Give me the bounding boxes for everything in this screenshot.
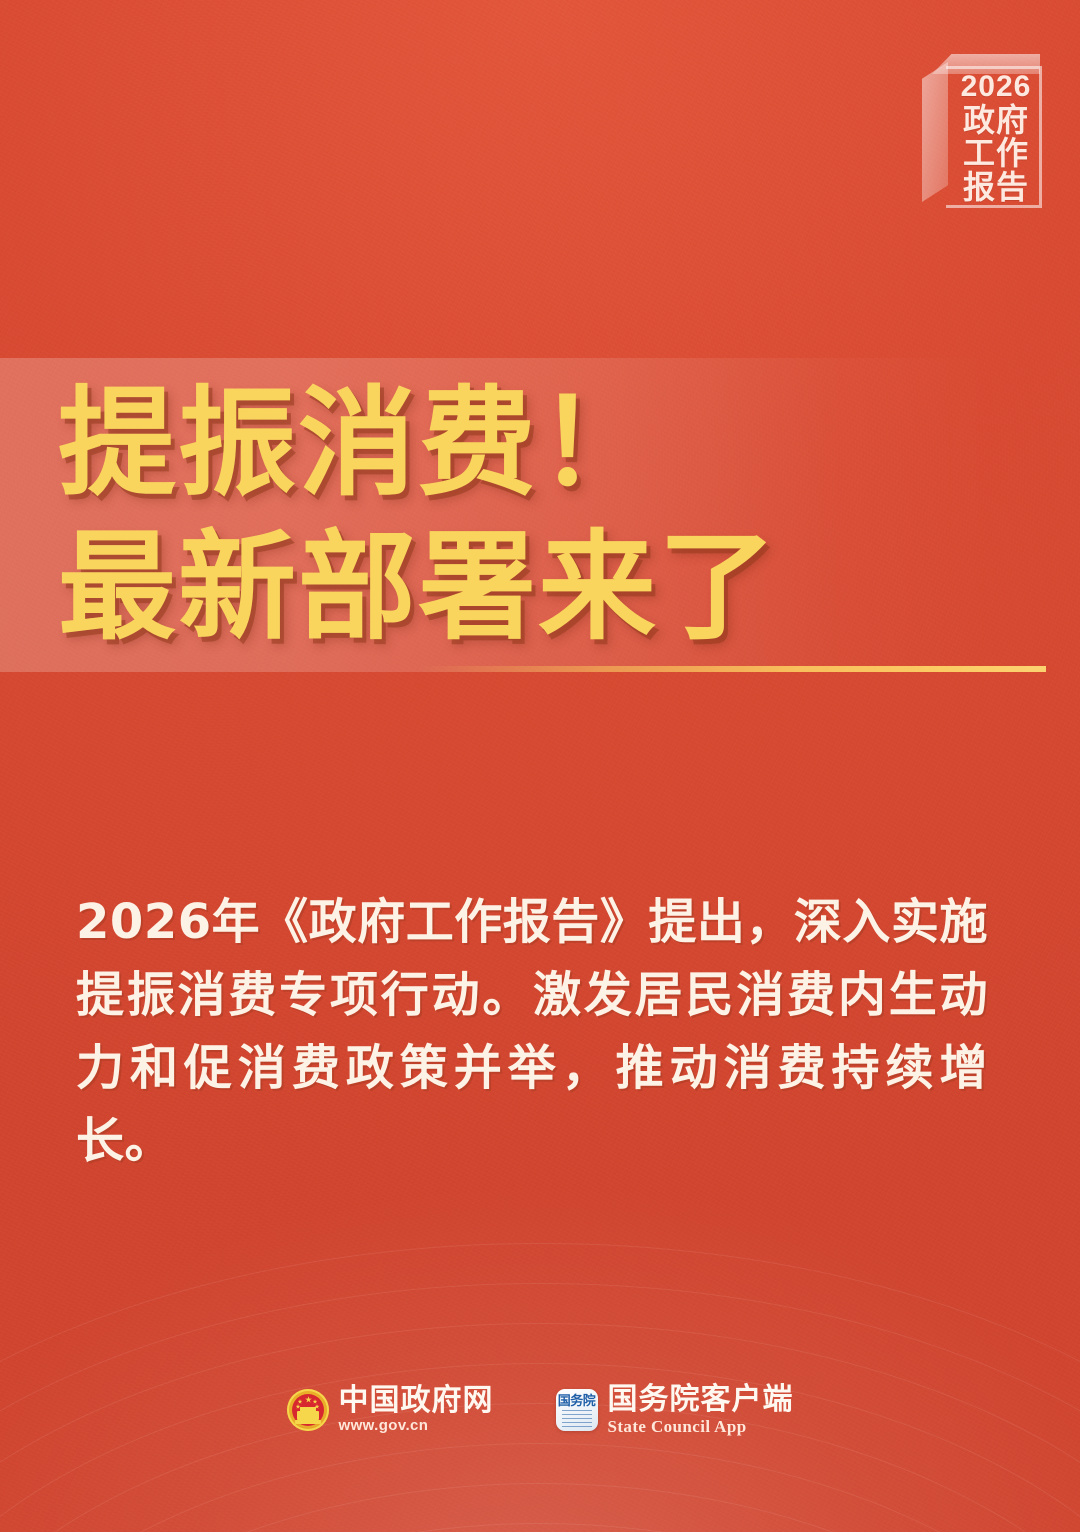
- report-logo-text: 2026 政府 工作 报告: [950, 70, 1042, 206]
- footer-brands: 中国政府网 www.gov.cn 国务院 国务院客户端 State Counci…: [0, 1383, 1080, 1437]
- headline-line-1: 提振消费！: [58, 372, 1038, 516]
- brand-state-council-app[interactable]: 国务院 国务院客户端 State Council App: [556, 1383, 794, 1437]
- state-council-app-icon-lines: [562, 1410, 592, 1428]
- headline-line-2: 最新部署来了: [58, 516, 1038, 660]
- brand-state-council-name: 国务院客户端: [608, 1383, 794, 1416]
- brand-china-gov-url: www.gov.cn: [339, 1417, 494, 1436]
- state-council-app-icon: 国务院: [556, 1389, 598, 1431]
- page-title: 提振消费！ 最新部署来了: [58, 372, 1038, 660]
- brand-china-gov-name: 中国政府网: [339, 1384, 494, 1417]
- brand-china-gov[interactable]: 中国政府网 www.gov.cn: [287, 1384, 494, 1436]
- report-logo-line3: 工作: [963, 137, 1029, 170]
- national-emblem-icon: [287, 1389, 329, 1431]
- gold-divider: [0, 666, 1046, 672]
- brand-state-council-subname: State Council App: [608, 1416, 794, 1437]
- body-paragraph: 2026年《政府工作报告》提出，深入实施提振消费专项行动。激发居民消费内生动力和…: [76, 886, 988, 1178]
- state-council-app-icon-label: 国务院: [558, 1394, 596, 1407]
- report-logo-year: 2026: [961, 72, 1032, 103]
- report-logo-line4: 报告: [963, 171, 1029, 204]
- report-logo-line2: 政府: [963, 104, 1029, 137]
- report-book-icon: 2026 政府 工作 报告: [922, 52, 1050, 212]
- background-paper-texture: [0, 0, 1080, 1532]
- book-spine-shape: [922, 62, 948, 202]
- poster-canvas: 2026 政府 工作 报告 提振消费！ 最新部署来了 2026年《政府工作报告》…: [0, 0, 1080, 1532]
